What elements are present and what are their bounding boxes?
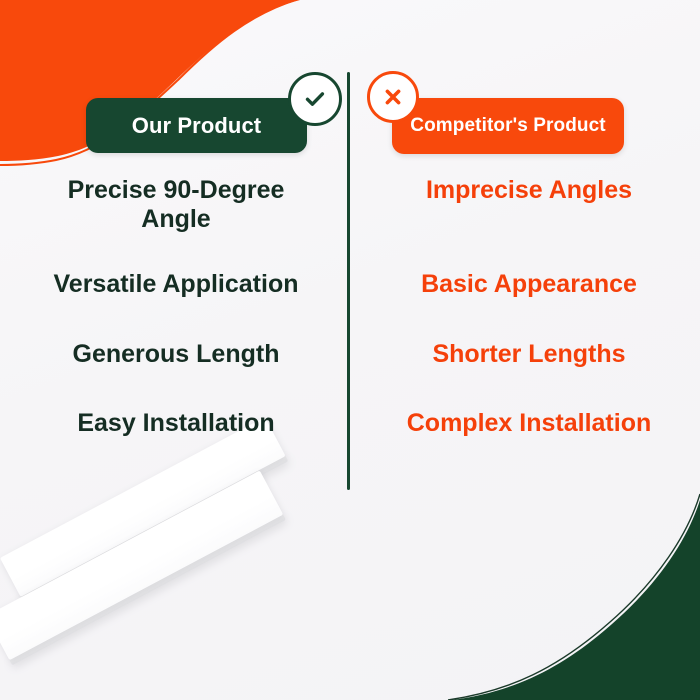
competitor-product-badge[interactable]: Competitor's Product [392,98,624,154]
table-row: Versatile Application Basic Appearance [0,270,700,340]
our-feature-cell: Versatile Application [0,270,348,299]
our-feature-label: Easy Installation [77,409,274,438]
our-feature-cell: Easy Installation [0,409,348,438]
check-mark-icon [302,86,328,112]
check-circle-icon [288,72,342,126]
our-product-badge-label: Our Product [132,113,261,139]
comparison-table: Precise 90-Degree Angle Imprecise Angles… [0,176,700,469]
competitor-feature-cell: Imprecise Angles [348,176,700,205]
table-row: Generous Length Shorter Lengths [0,340,700,409]
competitor-feature-cell: Complex Installation [348,409,700,438]
competitor-product-badge-label: Competitor's Product [410,115,605,137]
comparison-infographic: Our Product Competitor's Product Precise… [0,0,700,700]
our-feature-label: Precise 90-Degree Angle [30,176,322,235]
competitor-feature-label: Basic Appearance [421,270,637,299]
competitor-feature-cell: Basic Appearance [348,270,700,299]
competitor-feature-label: Shorter Lengths [432,340,625,369]
our-product-badge[interactable]: Our Product [86,98,307,153]
x-circle-icon [367,71,419,123]
our-feature-label: Generous Length [73,340,280,369]
green-wave-corner [448,494,700,700]
competitor-feature-label: Complex Installation [407,409,651,438]
our-feature-cell: Precise 90-Degree Angle [0,176,348,235]
table-row: Precise 90-Degree Angle Imprecise Angles [0,176,700,270]
our-feature-cell: Generous Length [0,340,348,369]
competitor-feature-label: Imprecise Angles [426,176,632,205]
x-mark-icon [381,85,405,109]
table-row: Easy Installation Complex Installation [0,409,700,469]
our-feature-label: Versatile Application [54,270,299,299]
competitor-feature-cell: Shorter Lengths [348,340,700,369]
